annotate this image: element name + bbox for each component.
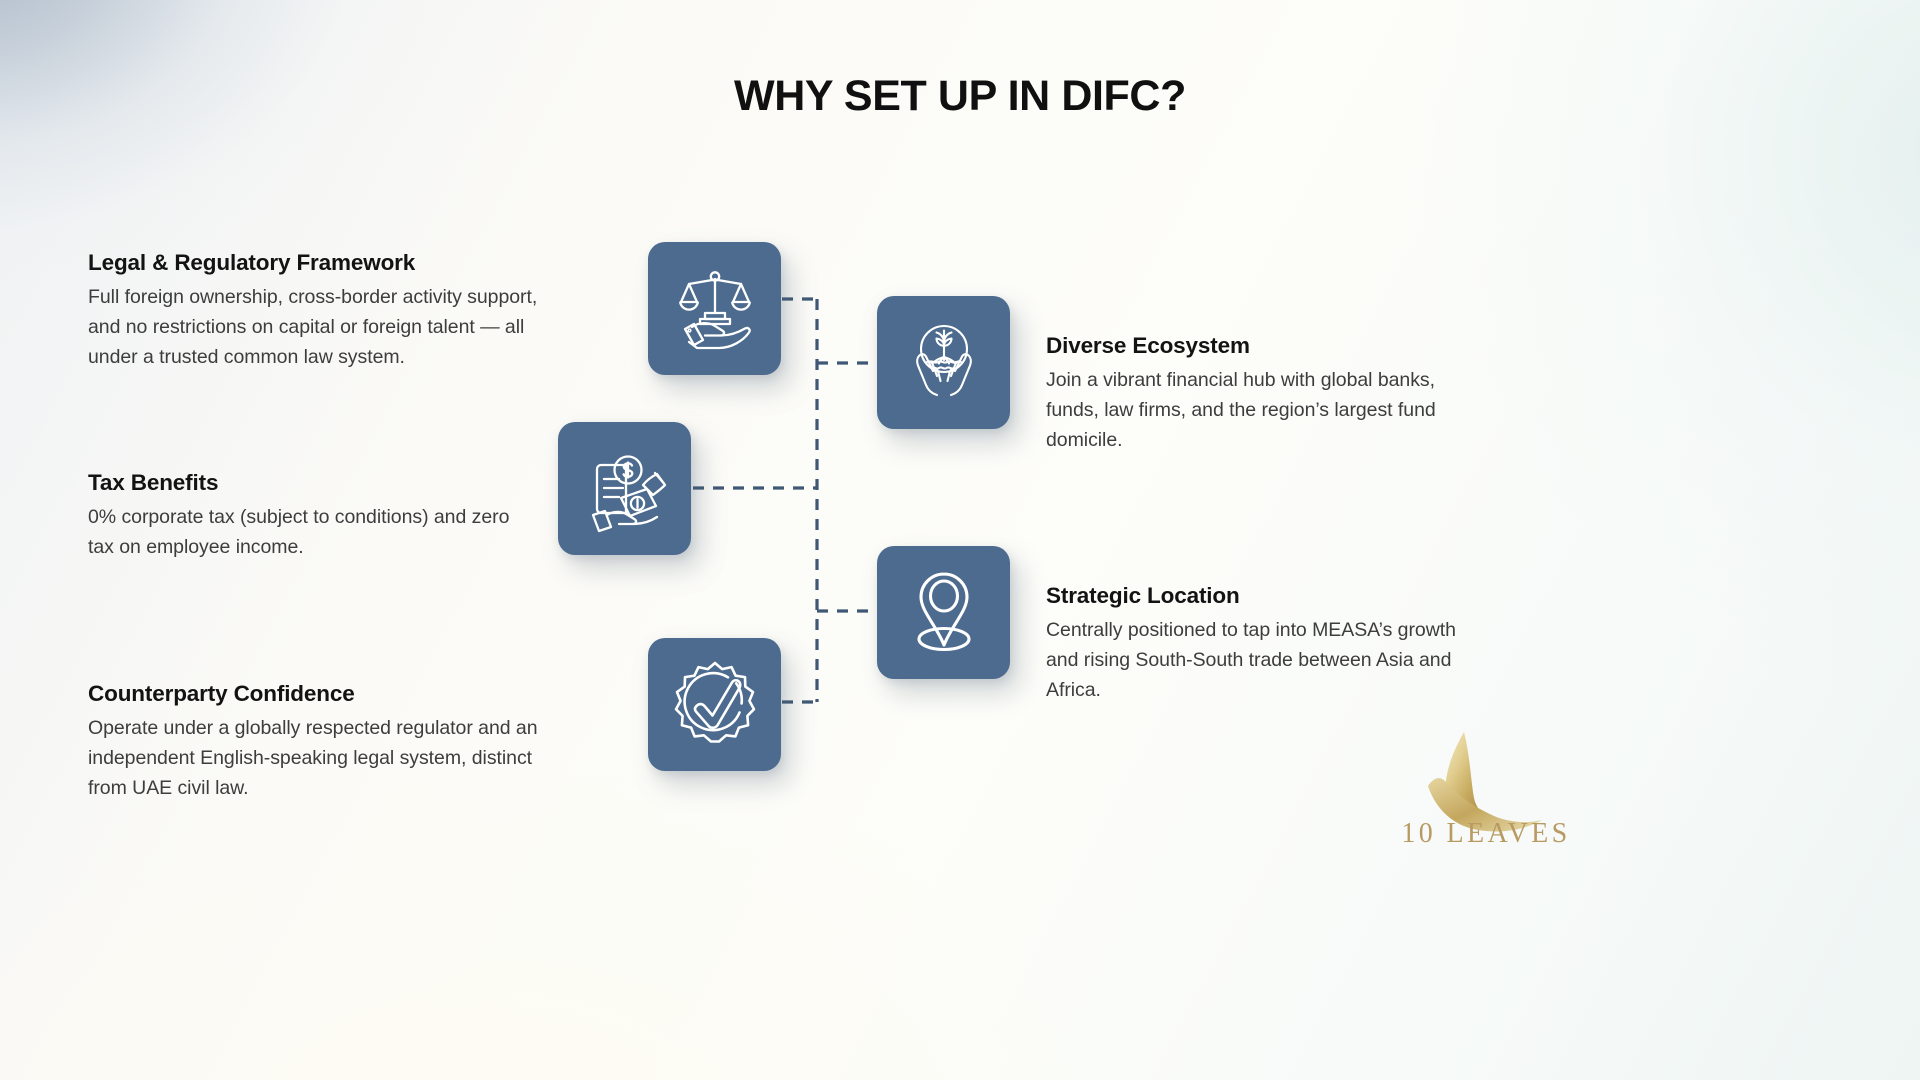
- feature-body-location: Centrally positioned to tap into MEASA’s…: [1046, 615, 1476, 705]
- feature-block-counterparty: Counterparty Confidence Operate under a …: [88, 681, 540, 803]
- hand-holding-money-document-icon: [577, 441, 673, 537]
- feature-block-ecosystem: Diverse Ecosystem Join a vibrant financi…: [1046, 333, 1476, 455]
- hand-holding-scales-icon: [667, 261, 763, 357]
- icon-tile-location: [877, 546, 1010, 679]
- logo-wordmark: 10 LEAVES: [1396, 818, 1576, 850]
- feature-title-ecosystem: Diverse Ecosystem: [1046, 333, 1476, 359]
- verified-badge-check-icon: [667, 657, 763, 753]
- icon-tile-counterparty: [648, 638, 781, 771]
- feature-body-legal: Full foreign ownership, cross-border act…: [88, 282, 540, 372]
- feature-body-tax: 0% corporate tax (subject to conditions)…: [88, 502, 540, 562]
- feature-block-location: Strategic Location Centrally positioned …: [1046, 583, 1476, 705]
- icon-tile-ecosystem: [877, 296, 1010, 429]
- feature-title-legal: Legal & Regulatory Framework: [88, 250, 540, 276]
- feature-block-legal: Legal & Regulatory Framework Full foreig…: [88, 250, 540, 372]
- icon-tile-tax: [558, 422, 691, 555]
- feature-body-counterparty: Operate under a globally respected regul…: [88, 713, 540, 803]
- page-title: WHY SET UP IN DIFC?: [0, 72, 1920, 121]
- feature-title-location: Strategic Location: [1046, 583, 1476, 609]
- feature-block-tax: Tax Benefits 0% corporate tax (subject t…: [88, 470, 540, 562]
- location-pin-icon: [896, 565, 992, 661]
- hands-holding-plant-icon: [896, 315, 992, 411]
- icon-tile-legal: [648, 242, 781, 375]
- feature-title-tax: Tax Benefits: [88, 470, 540, 496]
- feature-body-ecosystem: Join a vibrant financial hub with global…: [1046, 365, 1476, 455]
- infographic-canvas: WHY SET UP IN DIFC? Legal & Regulatory F…: [0, 0, 1920, 1080]
- feature-title-counterparty: Counterparty Confidence: [88, 681, 540, 707]
